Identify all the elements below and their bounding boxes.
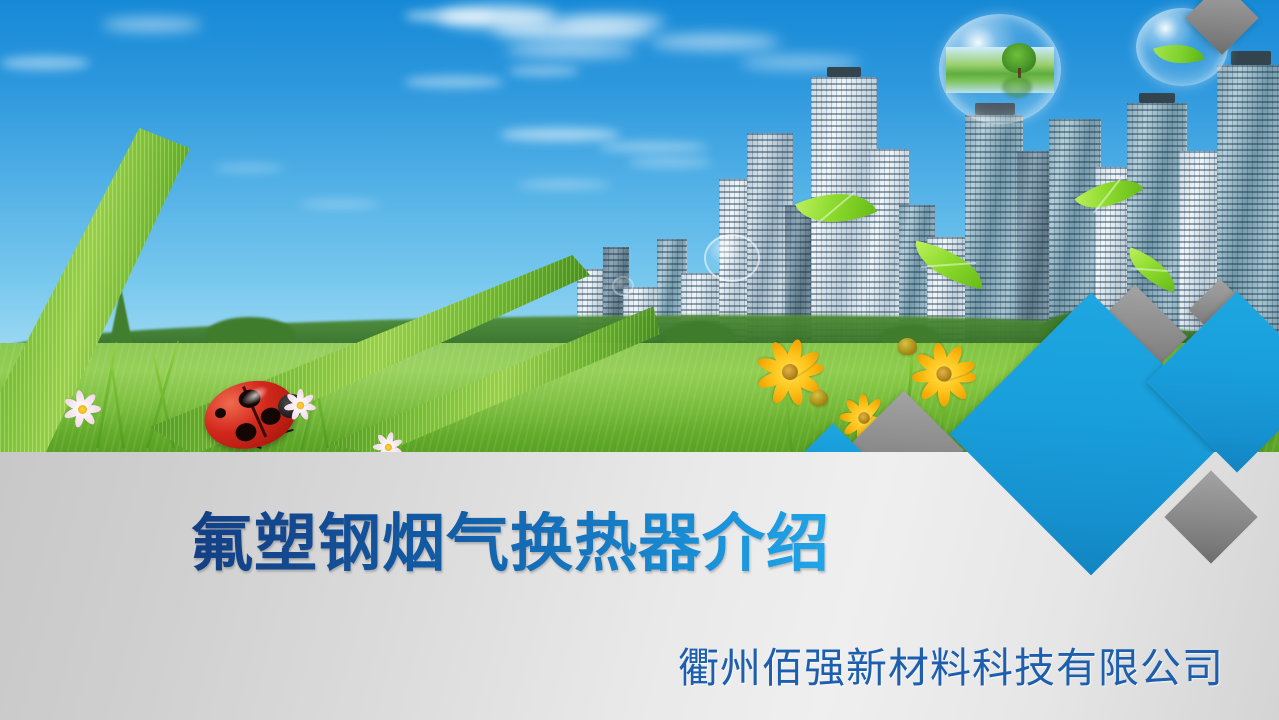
company-name: 衢州佰强新材料科技有限公司 [678, 634, 1224, 694]
diamond-blue-small [803, 423, 862, 452]
slide-title: 氟塑钢烟气换热器介绍 [190, 511, 830, 577]
diamond-gray-large [845, 391, 964, 452]
diamond-gray-small-top [1185, 0, 1259, 55]
diamond-cluster-upper [0, 0, 1279, 452]
presentation-slide: 氟塑钢烟气换热器介绍 衢州佰强新材料科技有限公司 [0, 0, 1279, 720]
